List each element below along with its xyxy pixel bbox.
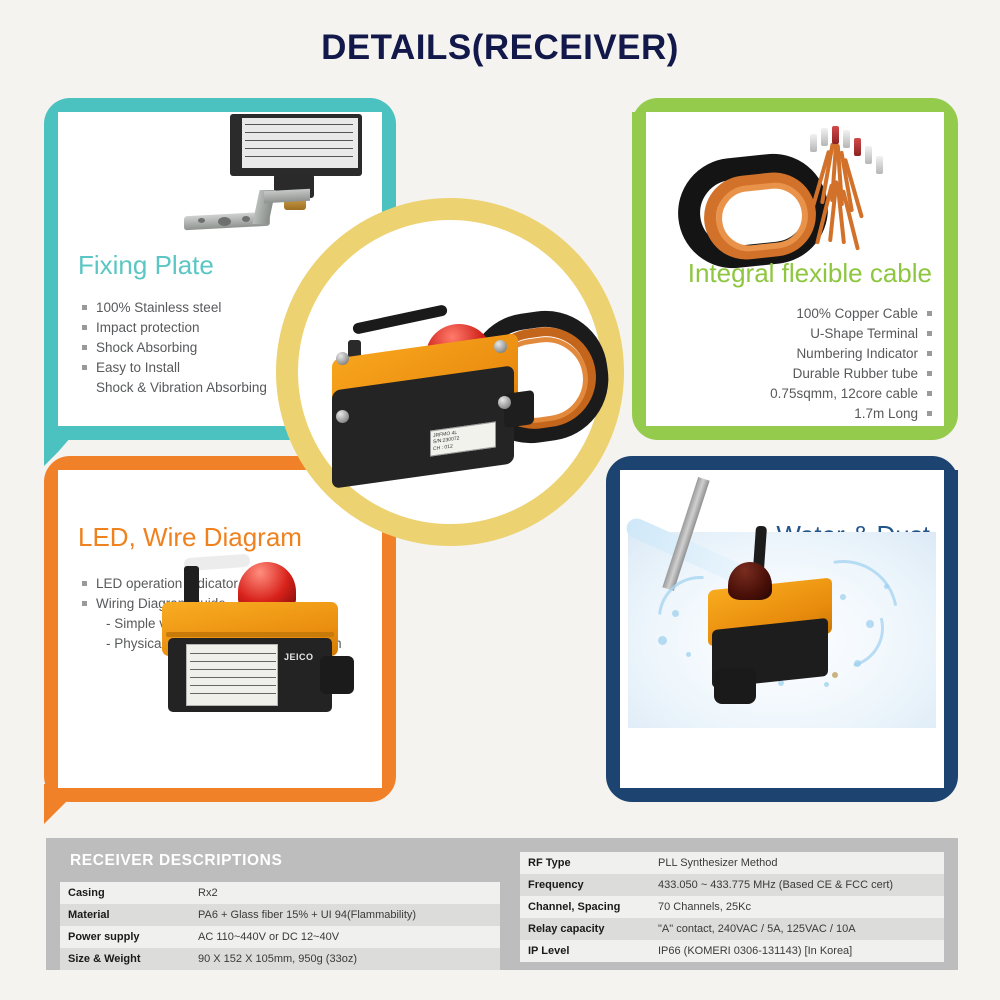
water-dust-resistant-image [628, 532, 936, 728]
bullet-square-icon [927, 411, 932, 416]
spec-key: IP Level [520, 940, 650, 962]
bullet-list-flexible-cable: 100% Copper Cable U-Shape Terminal Numbe… [770, 304, 932, 424]
bullet-square-icon [927, 331, 932, 336]
table-row: Size & Weight 90 X 152 X 105mm, 950g (33… [60, 948, 500, 970]
bullet-square-icon [82, 601, 87, 606]
table-row: Relay capacity "A" contact, 240VAC / 5A,… [520, 918, 944, 940]
list-item-label: Numbering Indicator [796, 346, 918, 361]
table-row: Channel, Spacing 70 Channels, 25Kc [520, 896, 944, 918]
panel-tail-icon [44, 784, 84, 824]
panel-integral-flexible-cable: Integral flexible cable 100% Copper Cabl… [632, 98, 958, 440]
table-row: Power supply AC 110~440V or DC 12~40V [60, 926, 500, 948]
spec-key: Power supply [60, 926, 190, 948]
spec-key: Channel, Spacing [520, 896, 650, 918]
spec-key: Casing [60, 882, 190, 904]
spec-value: AC 110~440V or DC 12~40V [190, 926, 500, 948]
spec-value: IP66 (KOMERI 0306-131143) [In Korea] [650, 940, 944, 962]
list-item-label: Easy to Install [96, 360, 180, 375]
bullet-list-fixing-plate: 100% Stainless steel Impact protection S… [82, 298, 267, 398]
list-item: 100% Copper Cable [770, 304, 932, 324]
list-item: Durable Rubber tube [770, 364, 932, 384]
table-row: Material PA6 + Glass fiber 15% + UI 94(F… [60, 904, 500, 926]
list-item: Easy to Install [82, 358, 267, 378]
panel-heading-fixing-plate: Fixing Plate [78, 252, 214, 279]
spec-table-left: Casing Rx2 Material PA6 + Glass fiber 15… [60, 882, 500, 970]
list-item: 100% Stainless steel [82, 298, 267, 318]
bullet-square-icon [82, 365, 87, 370]
panel-heading-led-wire-diagram: LED, Wire Diagram [78, 524, 302, 551]
receiver-descriptions-block: RECEIVER DESCRIPTIONS Casing Rx2 Materia… [46, 838, 958, 970]
spec-value: 433.050 ~ 433.775 MHz (Based CE & FCC ce… [650, 874, 944, 896]
hero-receiver-image: JRFMO 4L S/N:230072 CH : 012 [318, 300, 618, 510]
bullet-square-icon [82, 325, 87, 330]
spec-key: Frequency [520, 874, 650, 896]
list-item-label: 100% Stainless steel [96, 300, 221, 315]
bullet-square-icon [82, 345, 87, 350]
list-item: Shock Absorbing [82, 338, 267, 358]
bullet-square-icon [82, 581, 87, 586]
list-item-label: Durable Rubber tube [793, 366, 918, 381]
spec-value: PA6 + Glass fiber 15% + UI 94(Flammabili… [190, 904, 500, 926]
table-row: Casing Rx2 [60, 882, 500, 904]
spec-value: 70 Channels, 25Kc [650, 896, 944, 918]
list-item: 1.7m Long [770, 404, 932, 424]
list-item-label: Impact protection [96, 320, 200, 335]
spec-value: Rx2 [190, 882, 500, 904]
bullet-square-icon [927, 391, 932, 396]
list-item: Shock & Vibration Absorbing [82, 378, 267, 398]
list-item: Numbering Indicator [770, 344, 932, 364]
led-wire-diagram-image: JEICO [142, 556, 382, 736]
panel-heading-integral-flexible-cable: Integral flexible cable [688, 260, 932, 287]
list-item-label: U-Shape Terminal [810, 326, 918, 341]
list-item-label: 100% Copper Cable [796, 306, 918, 321]
spec-key: Relay capacity [520, 918, 650, 940]
spec-key: RF Type [520, 852, 650, 874]
table-row: RF Type PLL Synthesizer Method [520, 852, 944, 874]
list-item-label: Shock Absorbing [96, 340, 197, 355]
list-item: U-Shape Terminal [770, 324, 932, 344]
list-item: 0.75sqmm, 12core cable [770, 384, 932, 404]
table-row: IP Level IP66 (KOMERI 0306-131143) [In K… [520, 940, 944, 962]
spec-table-right: RF Type PLL Synthesizer Method Frequency… [520, 852, 944, 962]
list-item-label: Shock & Vibration Absorbing [96, 380, 267, 395]
list-item: Impact protection [82, 318, 267, 338]
spec-value: PLL Synthesizer Method [650, 852, 944, 874]
list-item-label: 1.7m Long [854, 406, 918, 421]
spec-block-title: RECEIVER DESCRIPTIONS [70, 852, 282, 870]
spec-value: "A" contact, 240VAC / 5A, 125VAC / 10A [650, 918, 944, 940]
spec-key: Size & Weight [60, 948, 190, 970]
table-row: Frequency 433.050 ~ 433.775 MHz (Based C… [520, 874, 944, 896]
panel-water-dust-resistant: Water & Dust resistant Our Receiver is d… [606, 456, 958, 802]
spec-key: Material [60, 904, 190, 926]
bullet-square-icon [82, 305, 87, 310]
page-title: DETAILS(RECEIVER) [0, 28, 1000, 68]
bullet-square-icon [927, 311, 932, 316]
spec-value: 90 X 152 X 105mm, 950g (33oz) [190, 948, 500, 970]
bullet-square-icon [927, 371, 932, 376]
bullet-square-icon [927, 351, 932, 356]
list-item-label: 0.75sqmm, 12core cable [770, 386, 918, 401]
